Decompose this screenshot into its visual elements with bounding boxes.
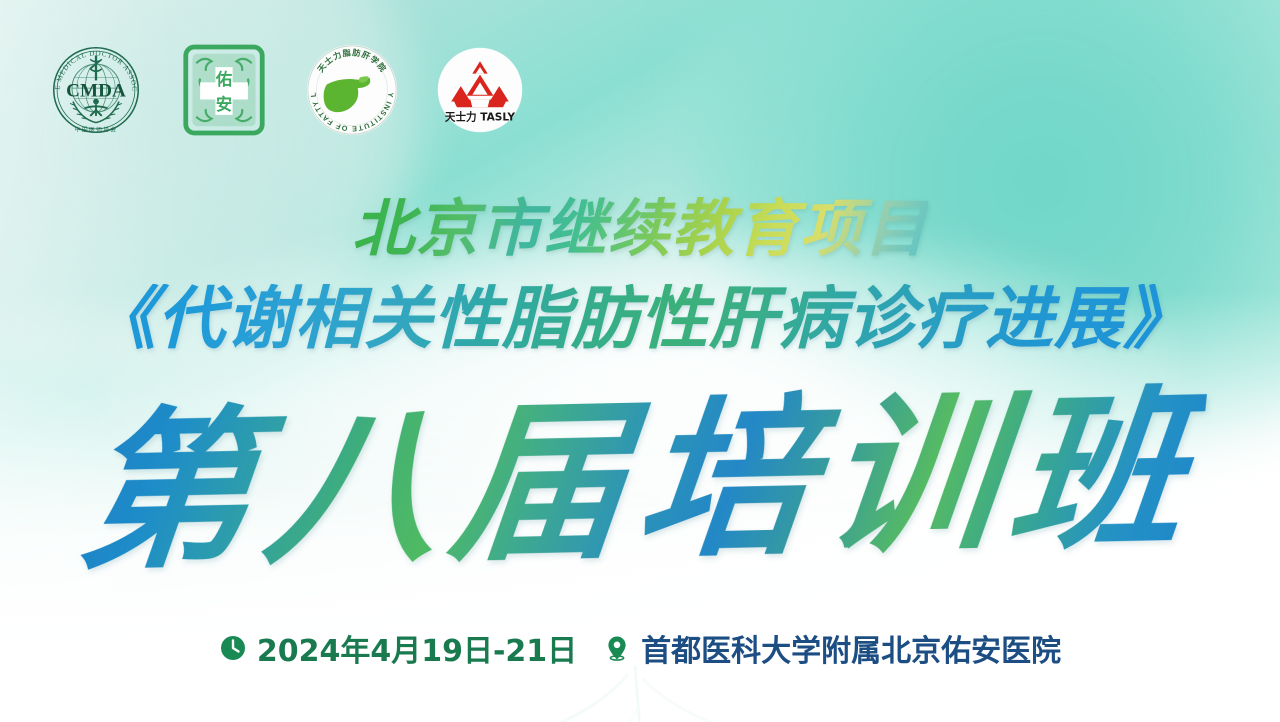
tasly-institute-of-fatty-liver-logo: 天士力脂肪肝学院 TASLY INSTITUTE OF FATTY LIVER: [304, 42, 400, 138]
logo-strip: CHINESE MEDICAL DOCTOR ASSOCIATION CMDA …: [48, 42, 528, 138]
event-venue-item: 首都医科大学附属北京佑安医院: [603, 626, 1061, 670]
clock-icon: [219, 634, 247, 662]
headline-line-1-container: 北京市继续教育项目: [0, 196, 1280, 261]
headline-line-1: 北京市继续教育项目: [352, 196, 928, 261]
calligraphy-title: 第八届培训班: [71, 370, 1210, 591]
poster-canvas: CHINESE MEDICAL DOCTOR ASSOCIATION CMDA …: [0, 0, 1280, 722]
youan-hospital-seal-logo: 佑 安: [176, 42, 272, 138]
svg-text:天士力 TASLY: 天士力 TASLY: [445, 111, 516, 124]
svg-text:安: 安: [216, 95, 232, 114]
location-pin-icon: [603, 634, 631, 662]
svg-text:CMDA: CMDA: [66, 81, 126, 102]
headline-line-2: 《代谢相关性脂肪性肝病诊疗进展》: [88, 284, 1192, 355]
meta-bar: 2024年4月19日-21日 首都医科大学附属北京佑安医院: [0, 626, 1280, 670]
cmda-logo: CHINESE MEDICAL DOCTOR ASSOCIATION CMDA …: [48, 42, 144, 138]
svg-text:中国医师协会: 中国医师协会: [75, 125, 118, 133]
headline-line-2-container: 《代谢相关性脂肪性肝病诊疗进展》: [0, 284, 1280, 355]
calligraphy-title-container: 第八届培训班: [0, 382, 1280, 580]
event-venue-text: 首都医科大学附属北京佑安医院: [641, 626, 1061, 670]
tasly-corporate-logo: 天士力 TASLY: [432, 42, 528, 138]
event-date-item: 2024年4月19日-21日: [219, 626, 577, 670]
event-date-text: 2024年4月19日-21日: [257, 626, 577, 670]
svg-text:佑: 佑: [215, 70, 232, 89]
